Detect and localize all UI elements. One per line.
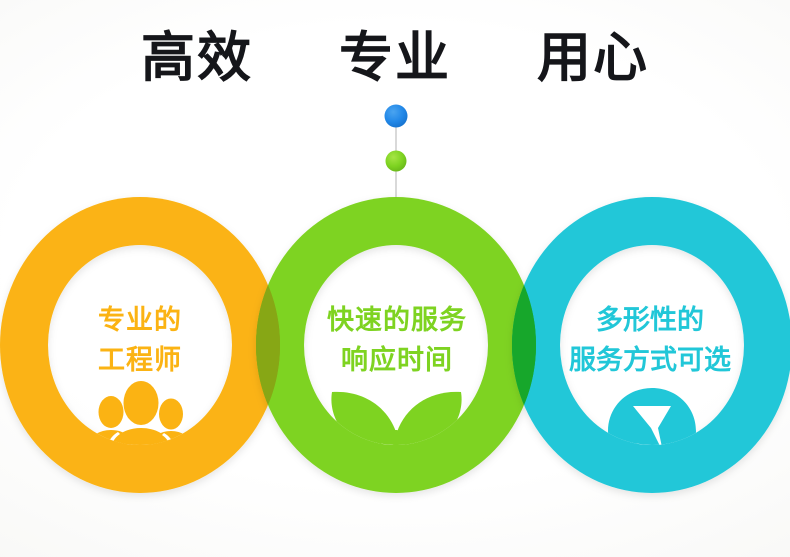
poster-canvas: 高效 专业 用心 <box>0 0 790 557</box>
venn-diagram <box>0 0 790 557</box>
